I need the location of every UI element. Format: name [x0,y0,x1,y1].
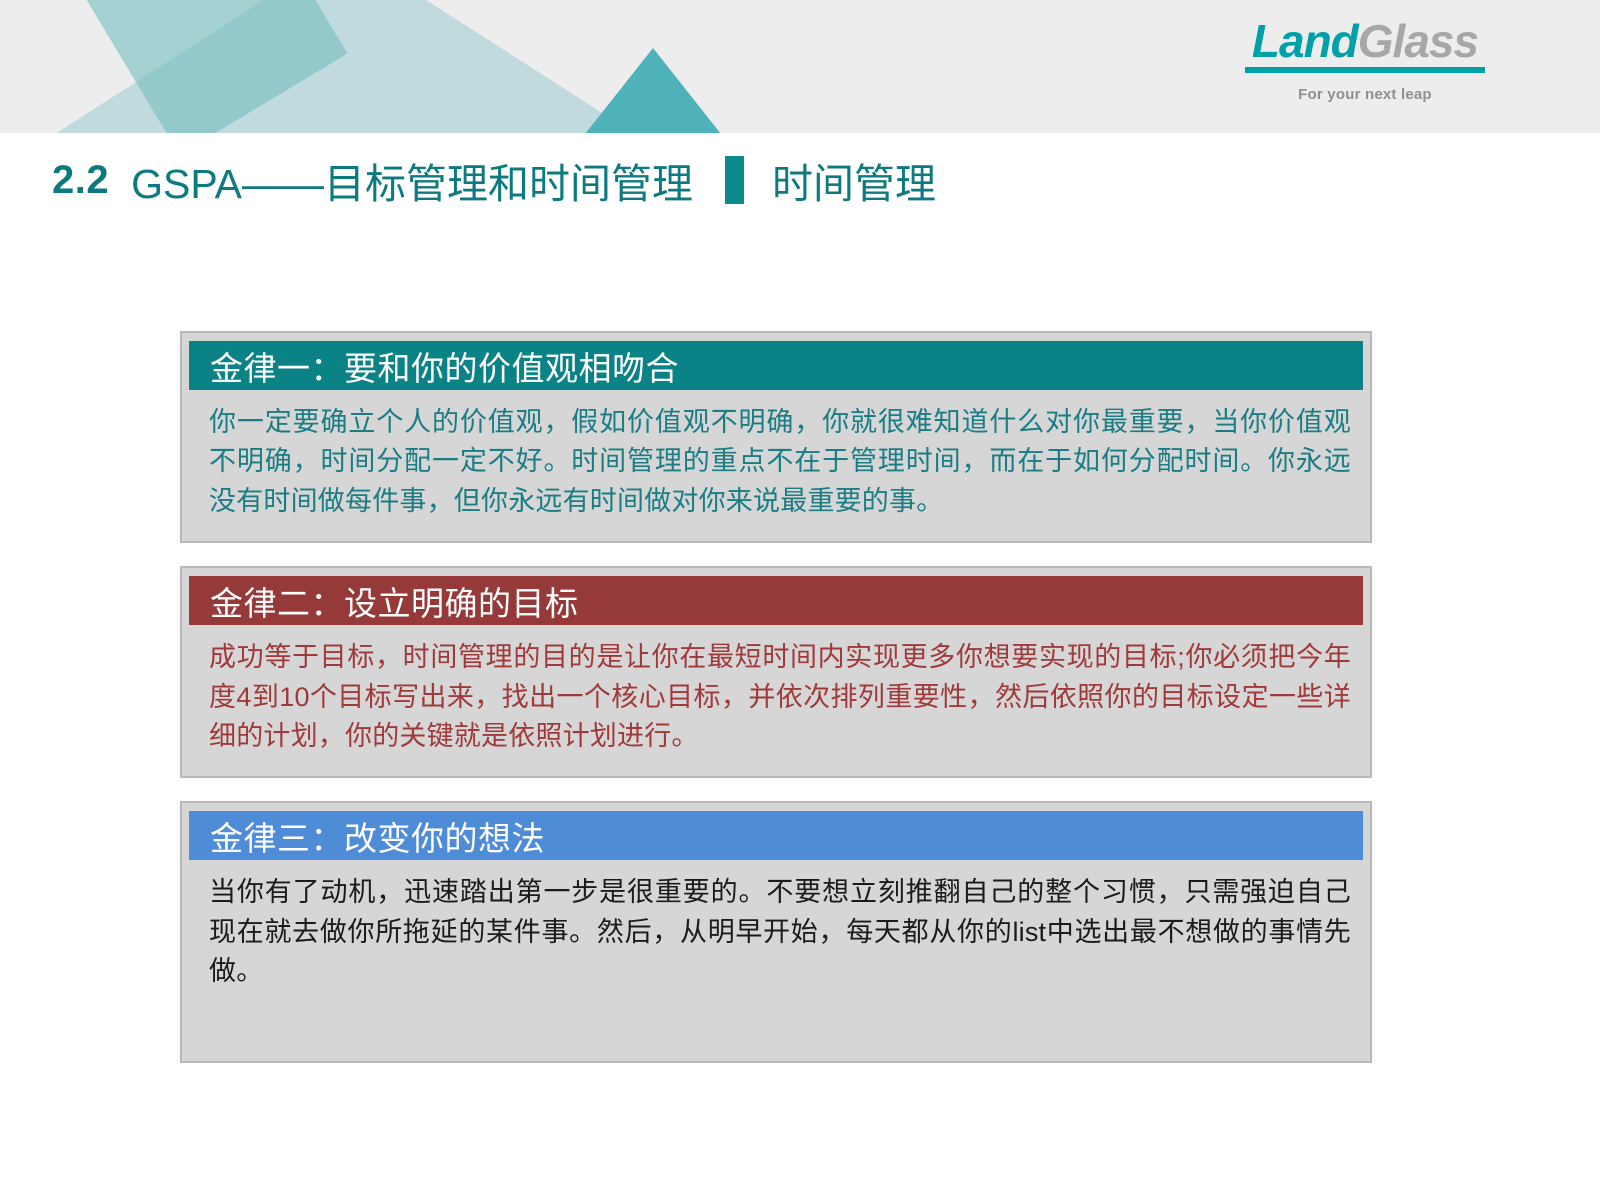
brand-logo: LandGlass For your next leap [1215,18,1515,103]
title-subtitle-text: 时间管理 [772,150,936,210]
logo-wordmark: LandGlass [1215,18,1515,64]
logo-underline [1245,67,1485,73]
rule-card-body: 你一定要确立个人的价值观，假如价值观不明确，你就很难知道什么对你最重要，当你价值… [189,390,1363,534]
rule-card-heading: 金律一：要和你的价值观相吻合 [189,341,1363,390]
rules-list: 金律一：要和你的价值观相吻合 你一定要确立个人的价值观，假如价值观不明确，你就很… [180,331,1372,1063]
logo-secondary-text: Glass [1358,15,1478,67]
triangle-solid-teal-icon [585,48,721,133]
rule-card-heading: 金律三：改变你的想法 [189,811,1363,860]
rule-card: 金律二：设立明确的目标 成功等于目标，时间管理的目的是让你在最短时间内实现更多你… [180,566,1372,778]
logo-tagline: For your next leap [1215,86,1515,103]
rule-card-heading: 金律二：设立明确的目标 [189,576,1363,625]
rule-card-body: 当你有了动机，迅速踏出第一步是很重要的。不要想立刻推翻自己的整个习惯，只需强迫自… [189,860,1363,1053]
title-main-text: GSPA——目标管理和时间管理 [131,150,693,210]
rule-card-body: 成功等于目标，时间管理的目的是让你在最短时间内实现更多你想要实现的目标;你必须把… [189,625,1363,769]
title-separator-bar [725,156,744,204]
logo-primary-text: Land [1252,15,1358,67]
rule-card: 金律三：改变你的想法 当你有了动机，迅速踏出第一步是很重要的。不要想立刻推翻自己… [180,801,1372,1062]
rule-card: 金律一：要和你的价值观相吻合 你一定要确立个人的价值观，假如价值观不明确，你就很… [180,331,1372,543]
title-number: 2.2 [52,158,109,203]
page-title: 2.2 GSPA——目标管理和时间管理 时间管理 [52,152,936,208]
header-band: LandGlass For your next leap [0,0,1600,133]
